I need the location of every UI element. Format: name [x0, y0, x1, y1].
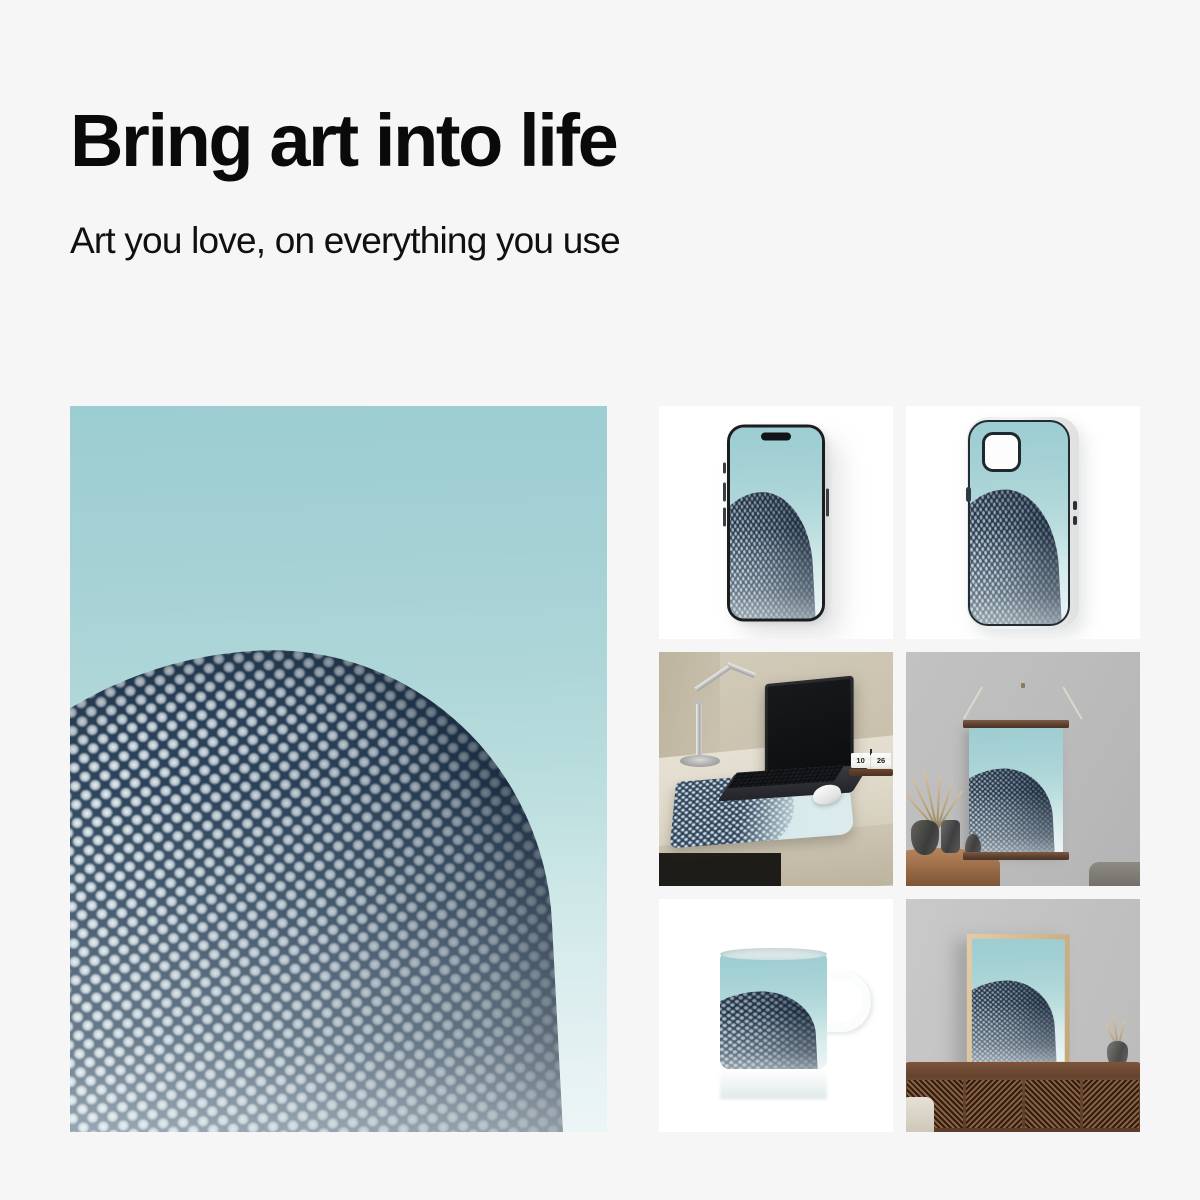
artwork-in-frame — [972, 938, 1065, 1061]
poster-bottom-rail — [963, 852, 1070, 860]
mockup-tile-mug[interactable] — [659, 899, 893, 1132]
product-gallery: 10 26 — [70, 406, 1140, 1132]
artwork-haze-overlay — [972, 938, 1065, 1061]
hanging-poster-product — [969, 720, 1063, 860]
promo-page: Bring art into life Art you love, on eve… — [0, 0, 1200, 1200]
laptop-screen — [768, 679, 851, 776]
laptop-lid — [765, 676, 854, 779]
phone-silent-switch — [723, 462, 726, 473]
framed-print-room-scene — [906, 899, 1140, 1132]
sideboard-door — [1083, 1080, 1139, 1128]
flip-calendar-cards: 10 26 — [851, 753, 891, 768]
cord-right-strand — [1063, 687, 1083, 720]
mug-reflection — [720, 1069, 828, 1099]
phone-power-button — [826, 488, 829, 516]
mug-handle — [821, 971, 871, 1032]
phone-case-side-cutout-lower — [1073, 516, 1077, 525]
tall-ceramic-vase — [941, 820, 960, 853]
poster-top-rail — [963, 720, 1070, 728]
flip-calendar-day: 26 — [871, 753, 890, 768]
mockup-tile-phone-case[interactable] — [906, 406, 1140, 639]
poster-sheet — [969, 726, 1063, 855]
desk-lamp — [680, 755, 720, 767]
framed-print-product — [967, 933, 1070, 1067]
frame-inner-print — [972, 938, 1065, 1061]
artwork-haze-overlay — [720, 952, 828, 1069]
mockup-tile-framed-print[interactable] — [906, 899, 1140, 1132]
desk-scene: 10 26 — [659, 652, 893, 885]
artwork-image — [70, 406, 607, 1132]
artwork-on-poster — [969, 726, 1063, 855]
artwork-on-phone — [730, 427, 822, 618]
mockup-grid: 10 26 — [659, 406, 1140, 1132]
cord-left-strand — [963, 687, 983, 720]
sofa-arm — [1089, 862, 1140, 885]
phone-case-button-nub — [966, 487, 971, 502]
sideboard-doors — [907, 1080, 1140, 1128]
sideboard-top — [906, 1062, 1140, 1077]
phone-device — [727, 424, 825, 621]
phone-volume-down-button — [723, 507, 726, 526]
flip-calendar-base — [849, 769, 893, 776]
page-title: Bring art into life — [70, 104, 1130, 178]
featured-artwork-tile[interactable] — [70, 406, 607, 1132]
header: Bring art into life Art you love, on eve… — [70, 104, 1130, 259]
mockup-tile-hanging-poster[interactable] — [906, 652, 1140, 885]
sofa-arm — [906, 1097, 934, 1132]
phone-screen — [730, 427, 822, 618]
lamp-stem — [696, 704, 702, 760]
flip-calendar: 10 26 — [851, 753, 891, 776]
artwork-on-mug — [720, 952, 828, 1069]
mockup-tile-desk-mat[interactable]: 10 26 — [659, 652, 893, 885]
flip-calendar-month: 10 — [851, 753, 870, 768]
artwork-haze-overlay — [70, 406, 607, 1132]
phone-case — [967, 417, 1079, 629]
artwork-haze-overlay — [969, 726, 1063, 855]
artwork-haze-overlay — [730, 427, 822, 618]
phone-case-printed-back — [968, 420, 1070, 626]
mug-stage — [659, 899, 893, 1132]
glass-vase — [911, 820, 939, 855]
camera-cutout — [982, 432, 1021, 472]
under-desk-shadow — [659, 853, 781, 886]
walnut-sideboard — [906, 1062, 1140, 1132]
phone-case-stage — [906, 406, 1140, 639]
phone-volume-up-button — [723, 482, 726, 501]
poster-room-scene — [906, 652, 1140, 885]
sideboard-door — [1025, 1080, 1081, 1128]
sideboard-door — [966, 1080, 1022, 1128]
page-subtitle: Art you love, on everything you use — [70, 222, 1130, 259]
mug-product — [720, 952, 828, 1069]
dynamic-island-notch — [761, 432, 791, 440]
mockup-tile-phone-wallpaper[interactable] — [659, 406, 893, 639]
mug-body — [720, 952, 828, 1069]
phone-stage — [659, 406, 893, 639]
phone-case-side-cutout-upper — [1073, 501, 1077, 510]
